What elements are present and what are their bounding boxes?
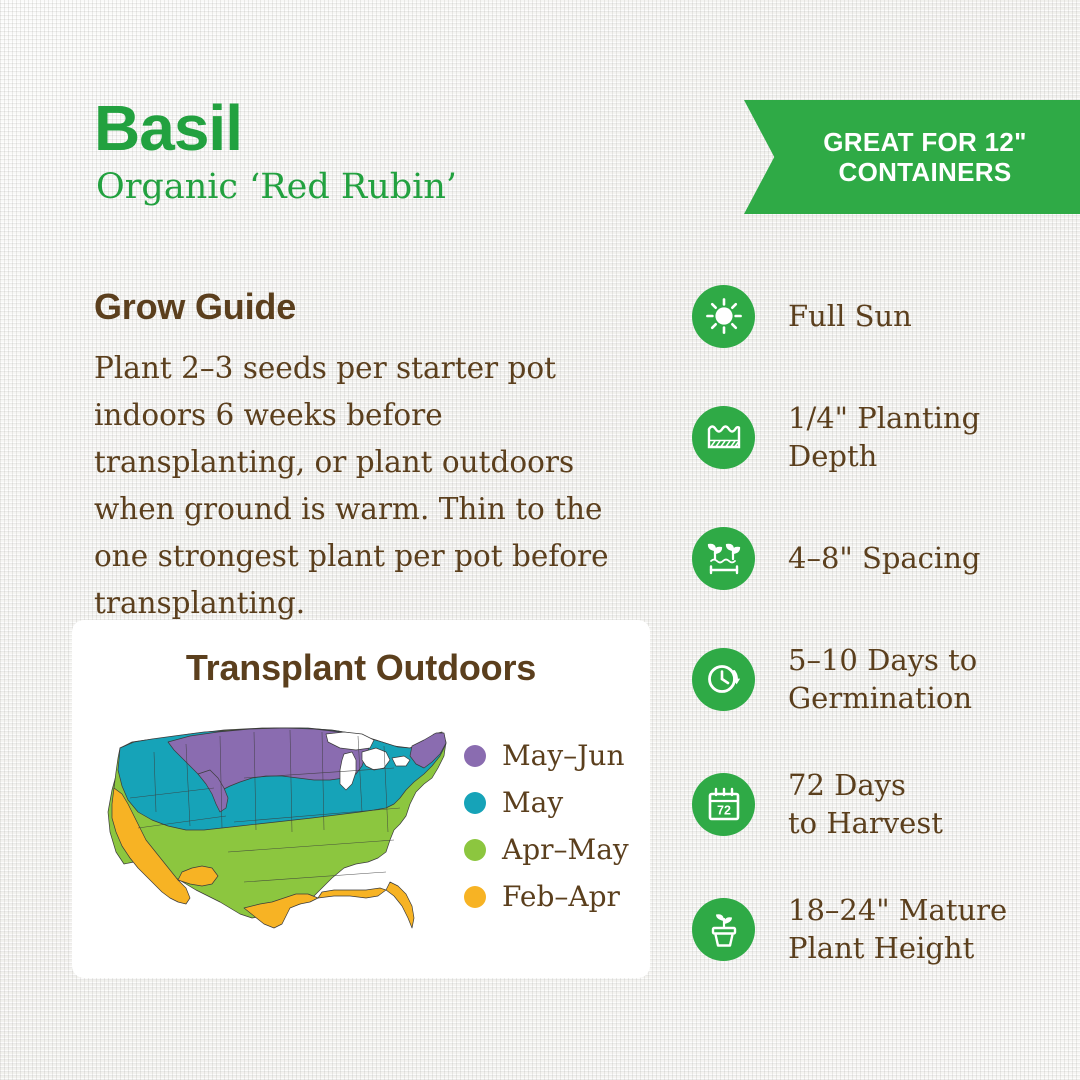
legend-dot-may — [464, 792, 486, 814]
legend-dot-apr-may — [464, 839, 486, 861]
page-subtitle: Organic ‘Red Rubin’ — [96, 168, 457, 207]
page-background: Basil Organic ‘Red Rubin’ GREAT FOR 12" … — [0, 0, 1080, 1080]
grow-guide-body: Plant 2–3 seeds per starter pot indoors … — [94, 345, 660, 627]
spacing-icon — [692, 527, 755, 590]
legend-label-feb-apr: Feb–Apr — [502, 880, 620, 913]
fact-label-full-sun: Full Sun — [788, 297, 912, 335]
map-card-title: Transplant Outdoors — [72, 647, 650, 689]
legend-label-apr-may: Apr–May — [502, 833, 629, 866]
container-size-banner: GREAT FOR 12" CONTAINERS — [744, 100, 1080, 214]
sun-icon — [692, 285, 755, 348]
map-legend: May–Jun May Apr–May Feb–Apr — [464, 732, 629, 920]
calendar-badge-number: 72 — [717, 804, 731, 818]
fact-germination: 5–10 Days toGermination — [692, 641, 1072, 717]
fact-label-mature-height: 18–24" MaturePlant Height — [788, 891, 1007, 967]
potted-plant-icon — [692, 898, 755, 961]
legend-item-feb-apr: Feb–Apr — [464, 873, 629, 920]
calendar-icon: 72 — [692, 773, 755, 836]
fact-label-planting-depth: 1/4" PlantingDepth — [788, 399, 980, 475]
legend-item-may: May — [464, 779, 629, 826]
legend-dot-feb-apr — [464, 886, 486, 908]
banner-line-2: CONTAINERS — [839, 157, 1012, 187]
fact-label-germination: 5–10 Days toGermination — [788, 641, 977, 717]
fact-days-to-harvest: 72 72 Daysto Harvest — [692, 766, 1072, 842]
page-title: Basil — [94, 96, 242, 160]
planting-depth-icon — [692, 406, 755, 469]
map-zone-feb-apr-gulf — [318, 888, 386, 898]
fact-full-sun: Full Sun — [692, 282, 1072, 350]
clock-icon — [692, 648, 755, 711]
legend-item-apr-may: Apr–May — [464, 826, 629, 873]
container-size-banner-text: GREAT FOR 12" CONTAINERS — [797, 127, 1027, 187]
fact-planting-depth: 1/4" PlantingDepth — [692, 399, 1072, 475]
legend-label-may: May — [502, 786, 563, 819]
transplant-map-card: Transplant Outdoors — [72, 620, 650, 978]
us-transplant-zone-map — [94, 712, 454, 942]
fact-spacing: 4–8" Spacing — [692, 524, 1072, 592]
plant-facts-list: Full Sun 1/4" PlantingDepth — [692, 282, 1072, 967]
fact-label-spacing: 4–8" Spacing — [788, 539, 980, 577]
fact-label-days-to-harvest: 72 Daysto Harvest — [788, 766, 943, 842]
legend-label-may-jun: May–Jun — [502, 739, 624, 772]
banner-line-1: GREAT FOR 12" — [823, 127, 1027, 157]
map-zone-feb-apr-florida — [386, 882, 414, 928]
legend-item-may-jun: May–Jun — [464, 732, 629, 779]
grow-guide-heading: Grow Guide — [94, 286, 296, 328]
fact-mature-height: 18–24" MaturePlant Height — [692, 891, 1072, 967]
legend-dot-may-jun — [464, 745, 486, 767]
